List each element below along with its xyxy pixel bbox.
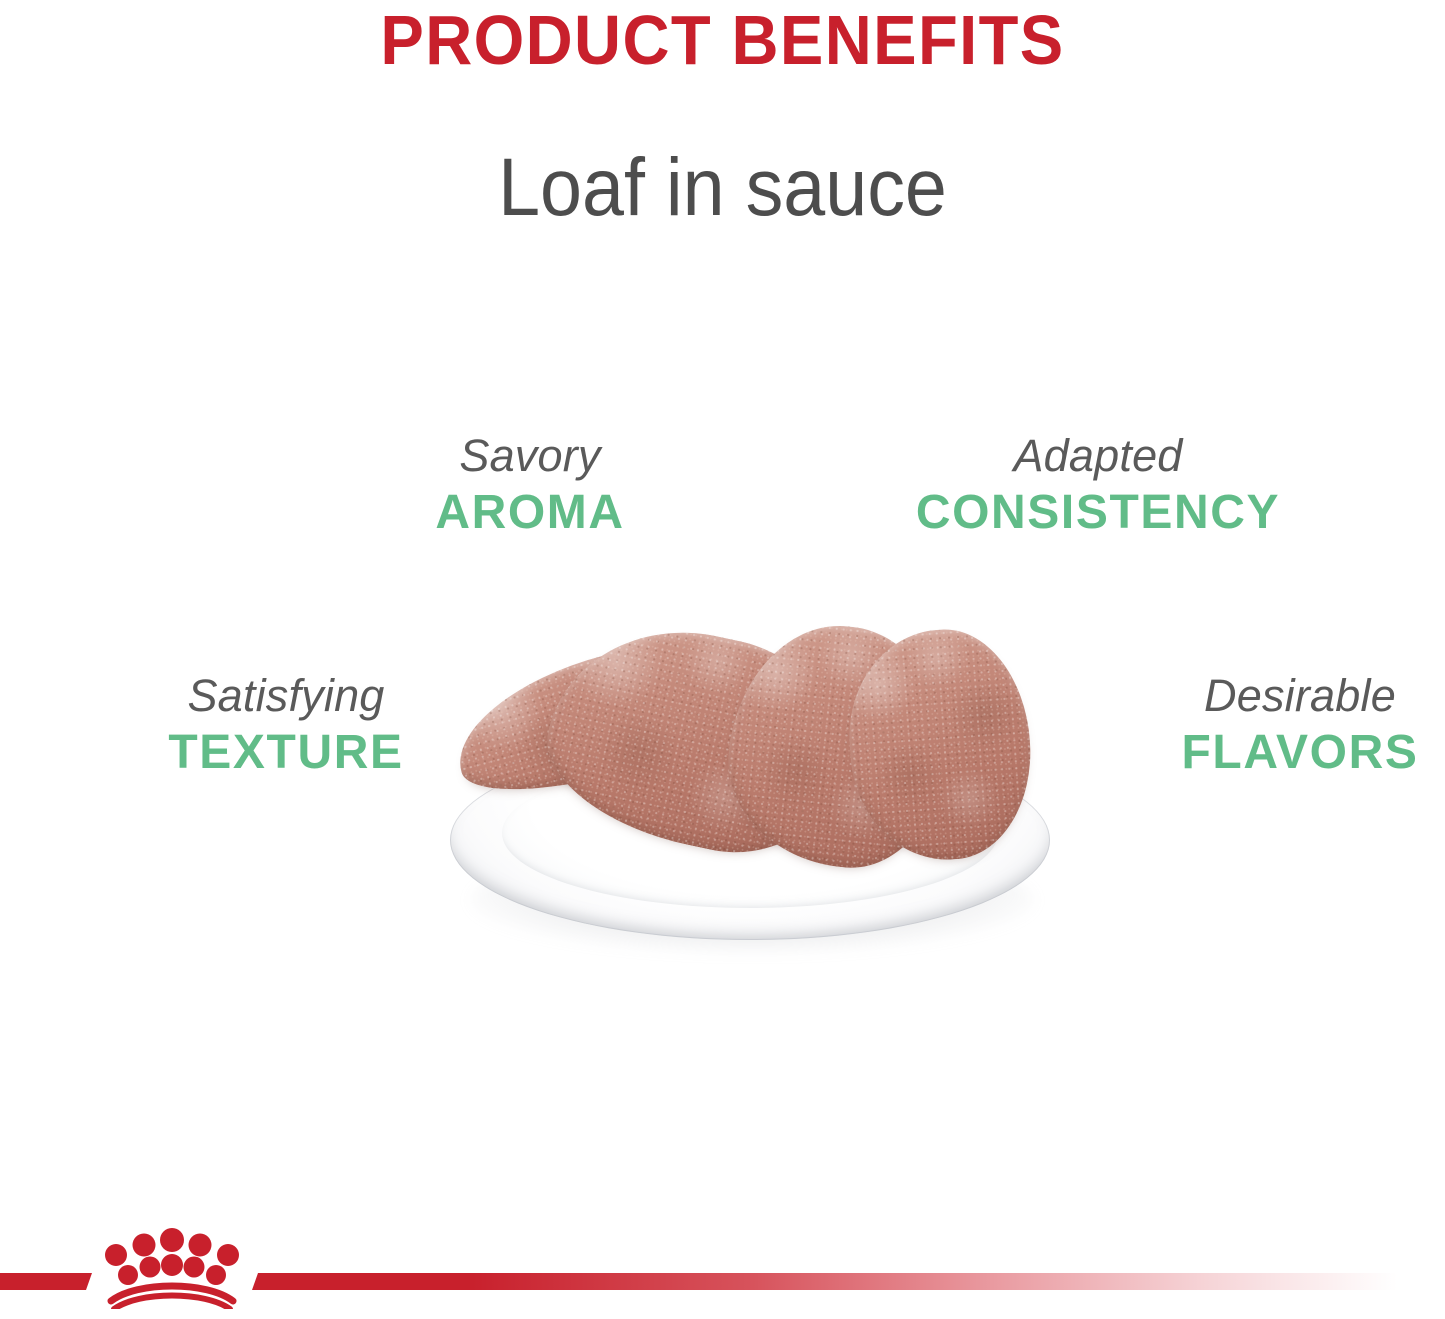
benefit-consistency: Adapted CONSISTENCY bbox=[916, 428, 1280, 542]
benefit-flavors-noun: FLAVORS bbox=[1182, 724, 1419, 782]
royal-canin-crown-logo bbox=[97, 1225, 247, 1309]
benefit-aroma-noun: AROMA bbox=[435, 484, 624, 542]
footer-bar-right bbox=[252, 1273, 1445, 1290]
benefit-consistency-noun: CONSISTENCY bbox=[916, 484, 1280, 542]
footer-bar-left bbox=[0, 1273, 92, 1290]
page-title: PRODUCT BENEFITS bbox=[51, 0, 1395, 80]
page-subtitle: Loaf in sauce bbox=[58, 140, 1387, 235]
benefit-consistency-adjective: Adapted bbox=[916, 428, 1280, 484]
benefit-aroma-adjective: Savory bbox=[435, 428, 624, 484]
footer-brand-bar bbox=[0, 1209, 1445, 1319]
benefit-aroma: Savory AROMA bbox=[435, 428, 624, 542]
product-benefits-page: PRODUCT BENEFITS Loaf in sauce Savory AR… bbox=[0, 0, 1445, 1319]
benefit-flavors: Desirable FLAVORS bbox=[1182, 668, 1419, 782]
benefit-texture-noun: TEXTURE bbox=[168, 724, 403, 782]
benefit-texture: Satisfying TEXTURE bbox=[168, 668, 403, 782]
benefit-flavors-adjective: Desirable bbox=[1182, 668, 1419, 724]
product-image-loaf-on-plate bbox=[440, 600, 1060, 980]
benefit-texture-adjective: Satisfying bbox=[168, 668, 403, 724]
